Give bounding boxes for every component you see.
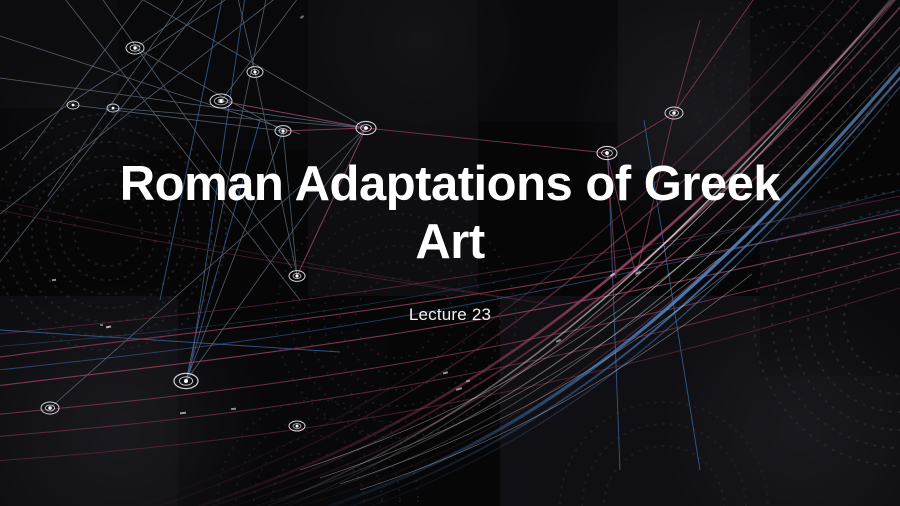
slide-title: Roman Adaptations of Greek Art (100, 155, 800, 271)
slide-content: Roman Adaptations of Greek Art Lecture 2… (0, 0, 900, 506)
slide-subtitle: Lecture 23 (409, 305, 491, 325)
presentation-slide: Roman Adaptations of Greek Art Lecture 2… (0, 0, 900, 506)
